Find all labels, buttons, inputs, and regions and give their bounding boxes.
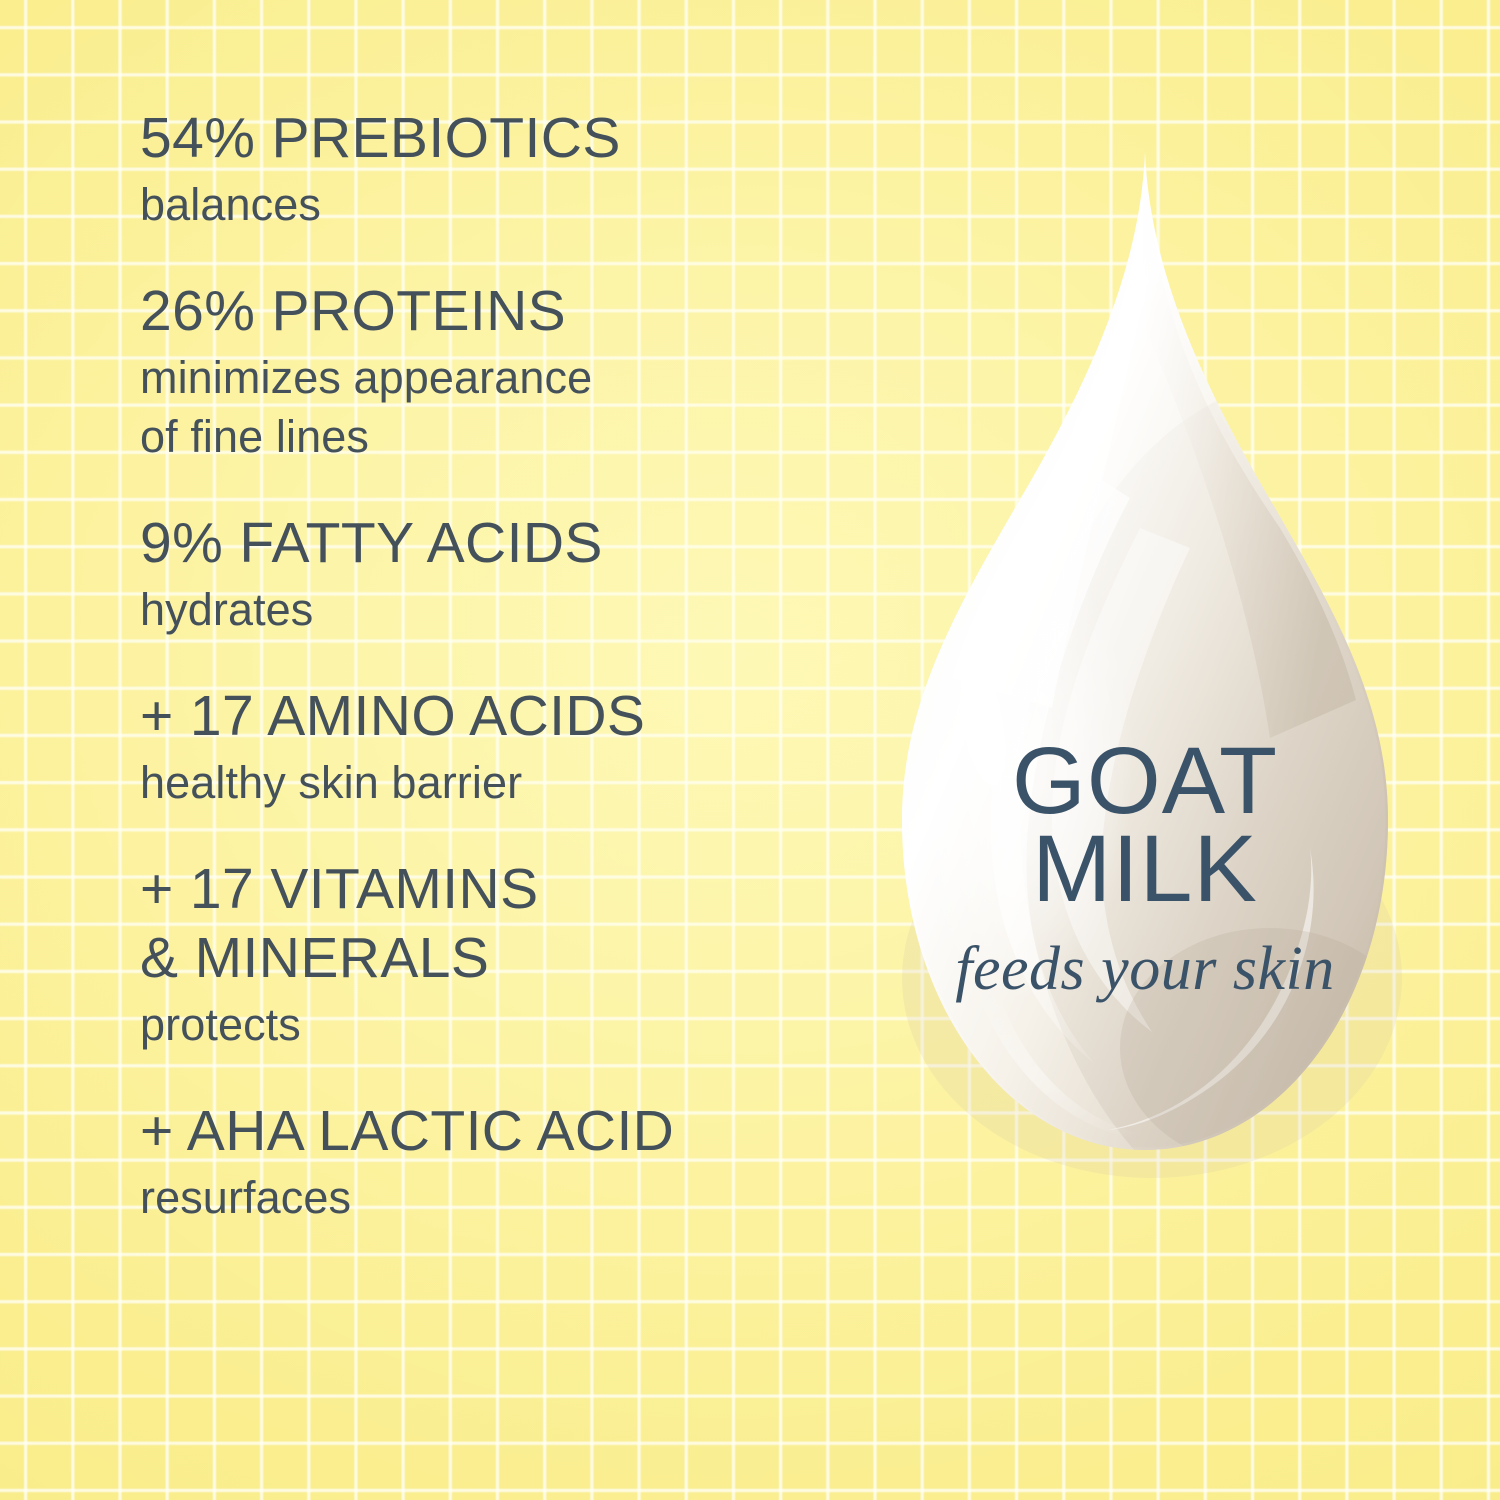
ingredient-item-amino-acids: + 17 AMINO ACIDS healthy skin barrier [140,682,860,812]
ingredient-list: 54% PREBIOTICS balances 26% PROTEINS min… [140,104,860,1227]
ingredient-benefit: hydrates [140,580,860,639]
ingredient-item-vitamins-minerals: + 17 VITAMINS & MINERALS protects [140,855,860,1054]
ingredient-benefit: healthy skin barrier [140,753,860,812]
ingredient-title: 26% PROTEINS [140,277,860,346]
ingredient-benefit: resurfaces [140,1168,860,1227]
milk-droplet-graphic [840,148,1450,1208]
ingredient-item-aha-lactic-acid: + AHA LACTIC ACID resurfaces [140,1097,860,1227]
ingredient-benefit: balances [140,175,860,234]
ingredient-item-prebiotics: 54% PREBIOTICS balances [140,104,860,234]
ingredient-item-proteins: 26% PROTEINS minimizes appearance of fin… [140,277,860,466]
ingredient-title: 9% FATTY ACIDS [140,509,860,578]
milk-droplet-icon [840,148,1450,1208]
ingredient-benefit: minimizes appearance of fine lines [140,348,860,466]
ingredient-title: + 17 AMINO ACIDS [140,682,860,751]
ingredient-title: + AHA LACTIC ACID [140,1097,860,1166]
ingredient-benefit: protects [140,995,860,1054]
ingredient-title: + 17 VITAMINS & MINERALS [140,855,860,993]
ingredient-title: 54% PREBIOTICS [140,104,860,173]
ingredient-item-fatty-acids: 9% FATTY ACIDS hydrates [140,509,860,639]
infographic-canvas: 54% PREBIOTICS balances 26% PROTEINS min… [0,0,1500,1500]
